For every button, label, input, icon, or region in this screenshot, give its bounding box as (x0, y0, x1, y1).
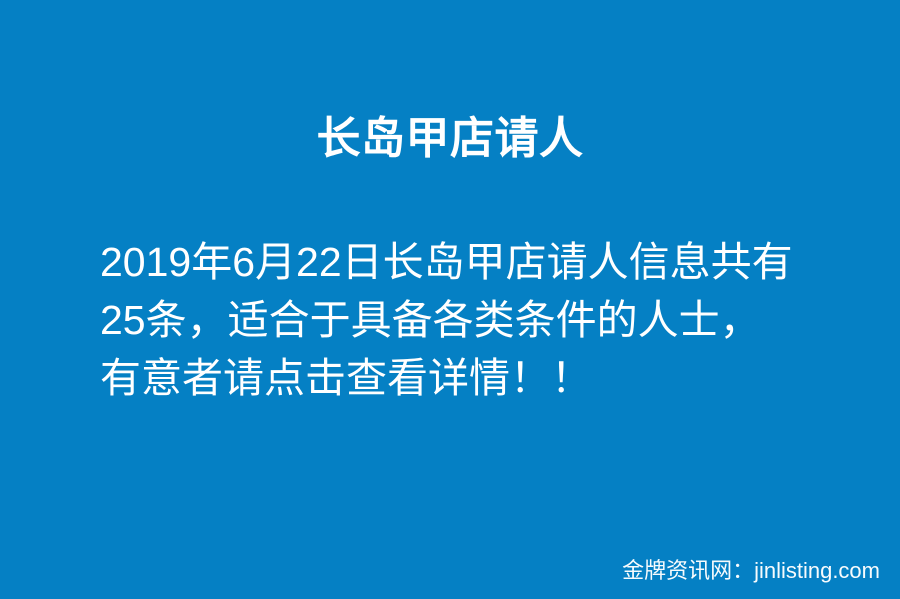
poster-description: 2019年6月22日长岛甲店请人信息共有25条，适合于具备各类条件的人士，有意者… (100, 233, 800, 407)
site-watermark: 金牌资讯网：jinlisting.com (622, 557, 880, 585)
poster-canvas: 长岛甲店请人 2019年6月22日长岛甲店请人信息共有25条，适合于具备各类条件… (0, 0, 900, 599)
page-title: 长岛甲店请人 (0, 113, 900, 165)
